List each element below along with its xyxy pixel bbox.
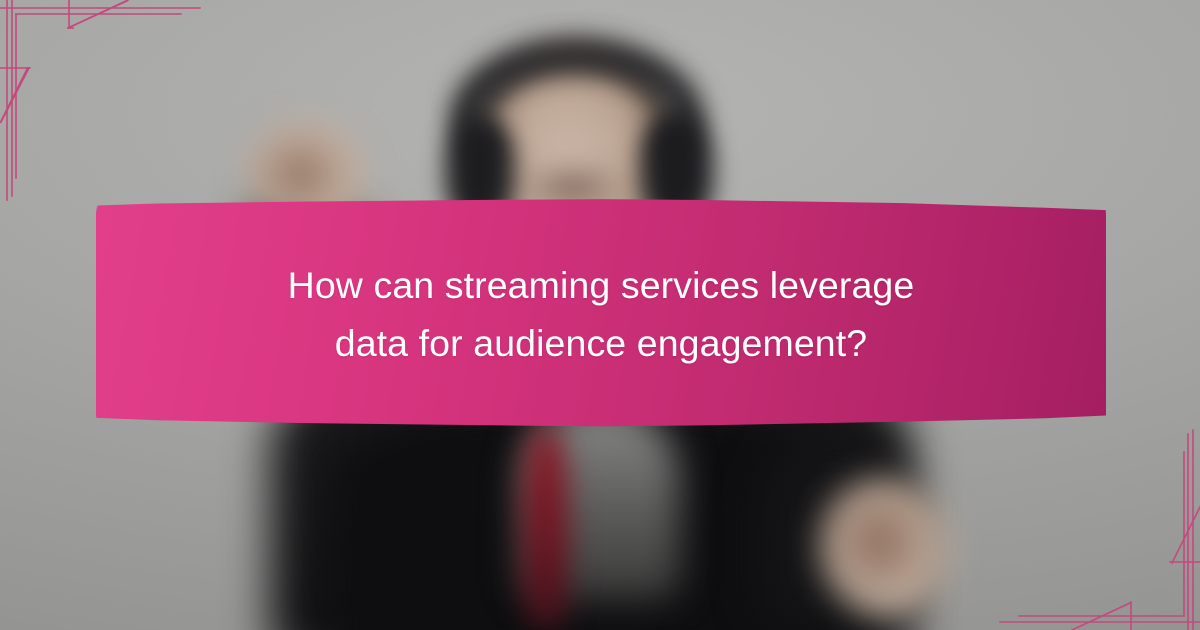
headline-banner: How can streaming services leverage data… — [96, 196, 1106, 432]
headline-line-2: data for audience engagement? — [335, 317, 867, 369]
headline-text-block: How can streaming services leverage data… — [96, 196, 1106, 432]
red-tie-shape — [523, 428, 569, 628]
headline-line-1: How can streaming services leverage — [288, 259, 915, 311]
